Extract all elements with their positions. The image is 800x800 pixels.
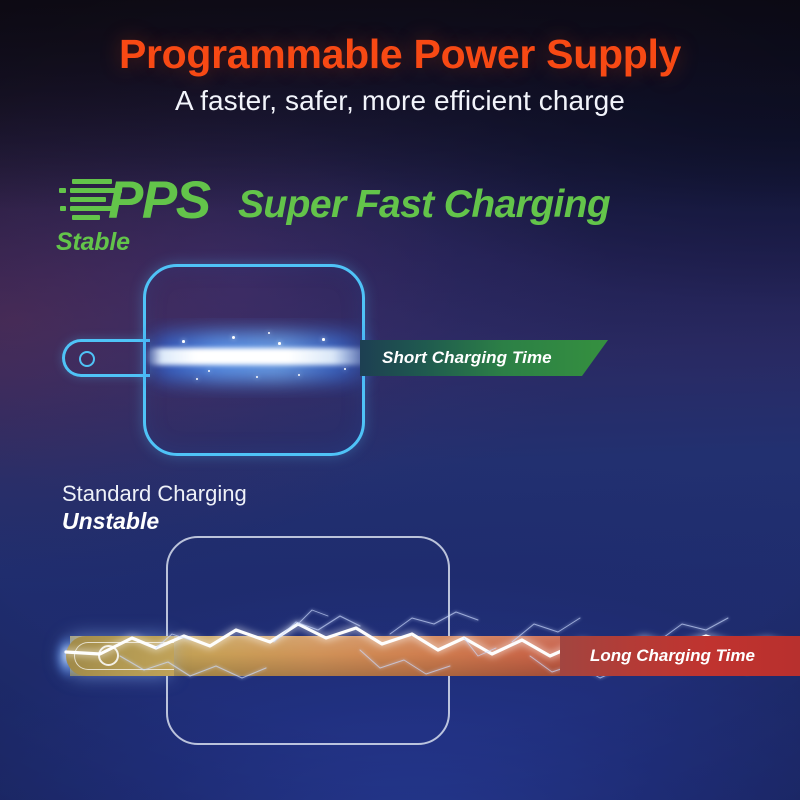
- short-charging-time-banner: Short Charging Time: [360, 340, 608, 376]
- short-charging-time-label: Short Charging Time: [382, 348, 552, 368]
- standard-plug-hole-icon: [98, 645, 119, 666]
- speed-lines-icon: [60, 176, 122, 226]
- pps-stability-label: Stable: [56, 228, 130, 257]
- energy-beam-graphic: [140, 318, 380, 398]
- energy-beam-core: [146, 348, 374, 365]
- standard-plug-connector-icon: [66, 636, 174, 676]
- long-charging-time-label: Long Charging Time: [590, 646, 755, 666]
- poster-canvas: Programmable Power Supply A faster, safe…: [0, 0, 800, 800]
- standard-stability-label: Unstable: [62, 508, 159, 535]
- standard-charging-label: Standard Charging: [62, 481, 247, 507]
- pps-headline: Super Fast Charging: [238, 183, 610, 227]
- long-charging-time-banner: Long Charging Time: [560, 636, 800, 676]
- header: Programmable Power Supply A faster, safe…: [0, 32, 800, 117]
- pps-logo: PPS: [60, 176, 210, 226]
- standard-plug-inner-outline: [74, 642, 174, 670]
- pps-plug-hole-icon: [79, 351, 95, 367]
- pps-logo-mark: PPS: [60, 176, 210, 226]
- page-subtitle: A faster, safer, more efficient charge: [0, 85, 800, 117]
- pps-logo-text: PPS: [108, 177, 210, 226]
- page-title: Programmable Power Supply: [0, 32, 800, 76]
- pps-plug-connector-icon: [62, 339, 150, 377]
